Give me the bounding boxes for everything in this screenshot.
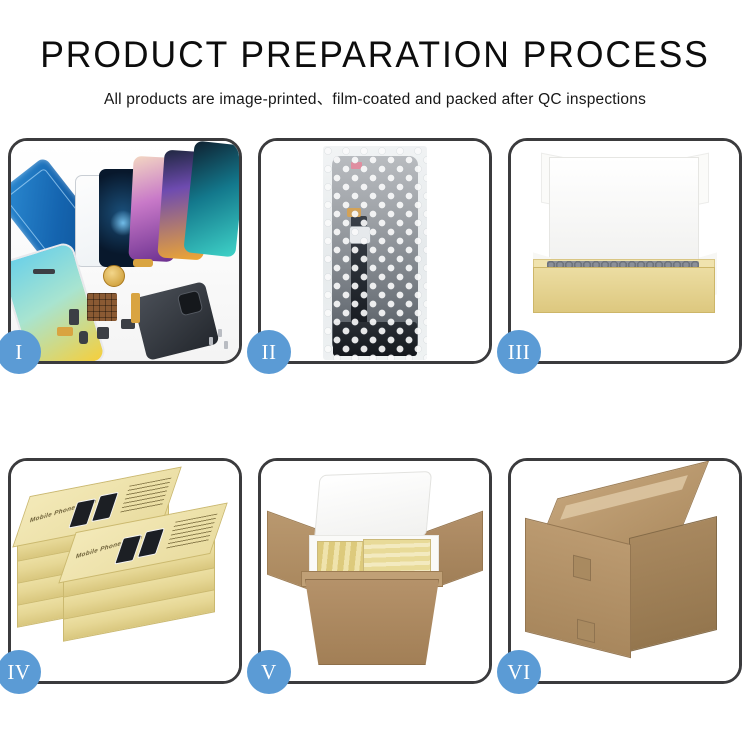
flex-cable-b [131, 293, 140, 323]
flex-cable-c [57, 327, 73, 336]
screw-a [209, 337, 213, 345]
box-screen-art-d [137, 528, 165, 558]
carton-side-face [629, 516, 717, 652]
box-screen-art-a [68, 498, 96, 528]
phone-parts-image [11, 141, 239, 361]
step-badge-6: VI [497, 650, 541, 694]
chip-array-part [87, 293, 117, 321]
step-badge-5: V [247, 650, 291, 694]
bubble-bag [323, 146, 427, 360]
step-panel-3: III [508, 138, 742, 364]
screw-c [224, 341, 228, 349]
step-badge-3: III [497, 330, 541, 374]
carton-packing-image [261, 461, 489, 681]
box-screen-art-c [114, 534, 142, 564]
speaker-part [33, 269, 55, 274]
box-spec-lines-rear [120, 478, 171, 514]
box-stack: Mobile Phone Spare Parts Mobile Phone Sp… [15, 475, 231, 671]
box-screen-art-b [91, 492, 119, 522]
header: PRODUCT PREPARATION PROCESS All products… [0, 0, 750, 109]
small-part-d [79, 331, 88, 344]
step-panel-1: I [8, 138, 242, 364]
step-badge-4: IV [0, 650, 41, 694]
page-subtitle: All products are image-printed、film-coat… [0, 87, 750, 109]
sealed-carton-image [511, 461, 739, 681]
flex-cable-a [133, 259, 153, 267]
yellow-tray-base [533, 267, 715, 313]
step-panel-5: V [258, 458, 492, 684]
bubble-highlight-texture [323, 146, 427, 360]
carton-body [305, 579, 439, 665]
copper-coil-part [103, 265, 125, 287]
tape-tab-upper [573, 555, 591, 581]
step-panel-6: VI [508, 458, 742, 684]
small-part-c [97, 327, 109, 339]
inner-box-image [511, 141, 739, 361]
foam-cooler-lid [314, 471, 432, 541]
step-panel-2: II [258, 138, 492, 364]
bubble-wrap-image [261, 141, 489, 361]
small-part-a [69, 309, 79, 325]
page-title: PRODUCT PREPARATION PROCESS [15, 36, 735, 73]
foam-lid-panel [549, 157, 699, 275]
box-spec-lines-front [166, 514, 217, 550]
product-preparation-infographic: PRODUCT PREPARATION PROCESS All products… [0, 0, 750, 750]
step-panel-4: Mobile Phone Spare Parts Mobile Phone Sp… [8, 458, 242, 684]
stacked-boxes-image: Mobile Phone Spare Parts Mobile Phone Sp… [11, 461, 239, 681]
step-badge-2: II [247, 330, 291, 374]
step-badge-1: I [0, 330, 41, 374]
screw-b [218, 329, 222, 337]
steps-grid: I II [8, 138, 742, 684]
tape-tab-lower [577, 619, 595, 643]
